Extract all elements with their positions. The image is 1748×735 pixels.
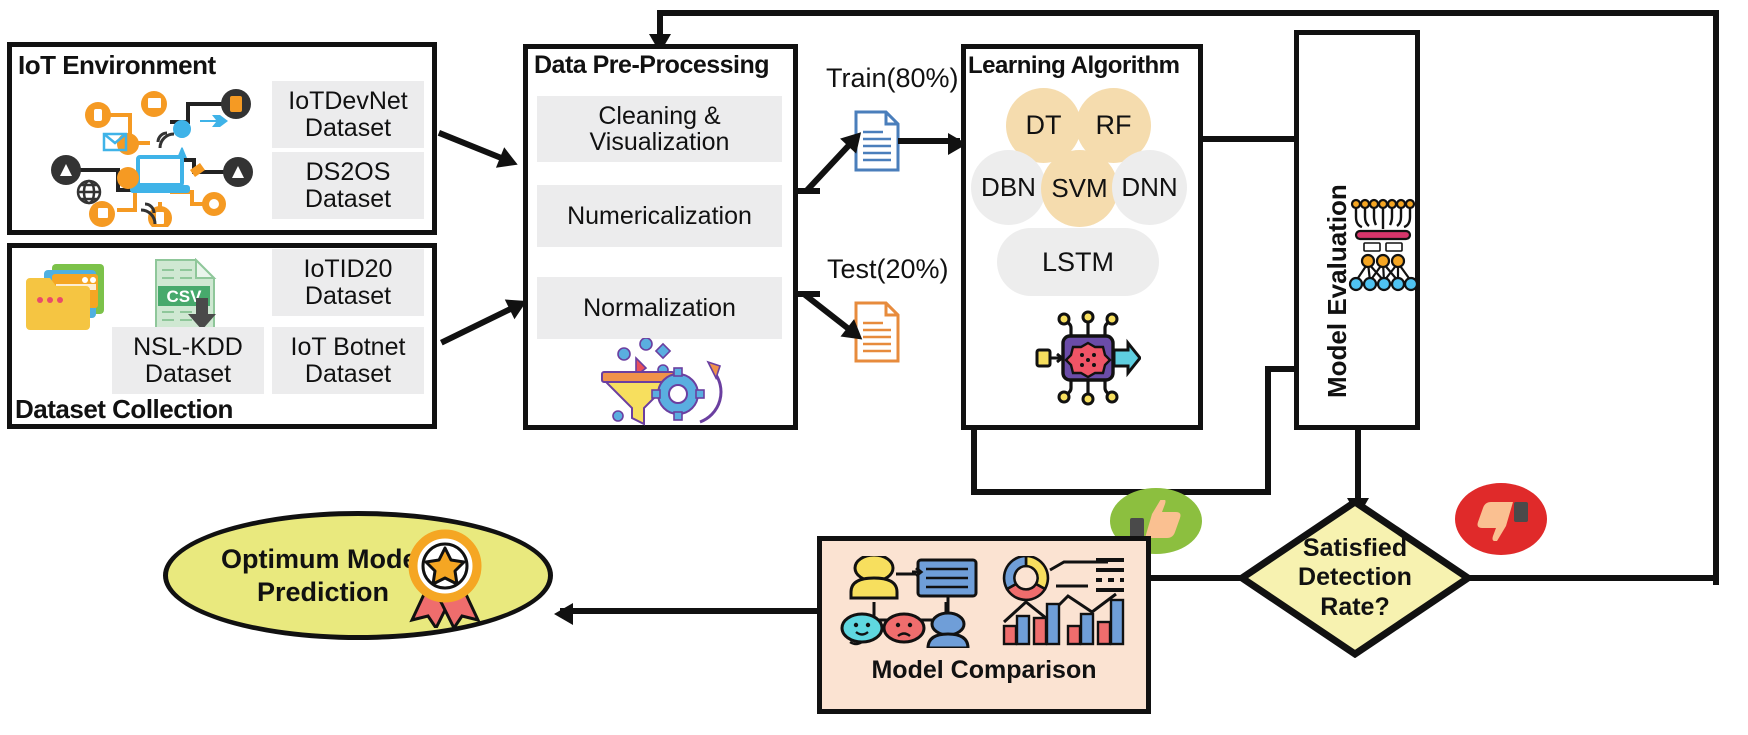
dataset-suffix: Dataset [145,361,231,388]
dataset-name: DS2OS [306,159,391,186]
step-line2: Visualization [590,129,730,156]
dataset-name: IoT Botnet [291,334,406,361]
ai-chip-icon [1035,310,1141,406]
iot-network-icon [42,82,272,227]
dataset-chip-iotbotnet[interactable]: IoT Botnet Dataset [272,327,424,394]
step-line1: Numericalization [567,203,752,230]
model-label: DBN [981,172,1036,203]
train-split-label: Train(80%) [826,63,959,94]
optimum-line1: Optimum Model [221,543,425,575]
iot-environment-title: IoT Environment [18,50,216,81]
preprocessing-step-cleaning[interactable]: Cleaning & Visualization [537,96,782,162]
model-label: DNN [1121,172,1177,203]
dataset-chip-nslkdd[interactable]: NSL-KDD Dataset [112,327,264,394]
folder-stack-icon [22,258,118,338]
preprocessing-step-numericalization[interactable]: Numericalization [537,185,782,247]
funnel-gear-icon [588,338,728,426]
model-label: RF [1096,110,1132,141]
dataset-suffix: Dataset [305,361,391,388]
dataset-suffix: Dataset [305,283,391,310]
dataset-name: IoTID20 [304,256,393,283]
model-label: SVM [1051,173,1107,204]
model-pill-lstm[interactable]: LSTM [997,228,1159,296]
preprocessing-step-normalization[interactable]: Normalization [537,277,782,339]
step-line1: Cleaning & [598,103,720,130]
award-ribbon-icon [400,528,496,628]
feedback-loop-down [657,10,663,36]
arrow-comparison-to-optimum [554,603,573,625]
decision-line3: Rate? [1320,593,1389,623]
feedback-loop-top [657,10,1719,16]
dataset-chip-iotdevnet[interactable]: IoTDevNet Dataset [272,81,424,148]
dataset-name: IoTDevNet [288,88,407,115]
dataset-collection-title: Dataset Collection [15,394,233,425]
decision-label: Satisfied Detection Rate? [1258,518,1452,638]
csv-download-icon: CSV [152,258,222,334]
analytics-charts-icon [1000,556,1130,648]
test-split-label: Test(20%) [827,254,949,285]
decision-line1: Satisfied [1303,534,1407,564]
feedback-loop-right [1713,10,1719,585]
org-chart-icon [838,556,984,648]
data-preprocessing-title: Data Pre-Processing [534,51,769,80]
model-label: LSTM [1042,247,1114,278]
line-learning-to-evaluation [1203,136,1307,142]
model-circle-dnn[interactable]: DNN [1112,150,1187,225]
dataset-suffix: Dataset [305,115,391,142]
learning-algorithm-title: Learning Algorithm [968,52,1179,80]
model-label: DT [1026,110,1062,141]
dataset-chip-iotid20[interactable]: IoTID20 Dataset [272,249,424,316]
dataset-name: NSL-KDD [133,334,243,361]
flowchart-canvas: IoT Environment [0,0,1748,735]
decision-line2: Detection [1298,563,1412,593]
model-comparison-title: Model Comparison [817,656,1151,685]
dataset-suffix: Dataset [305,186,391,213]
model-circle-svm[interactable]: SVM [1041,150,1118,227]
dataset-chip-ds2os[interactable]: DS2OS Dataset [272,152,424,219]
neural-network-icon [1348,195,1418,295]
line-test-up-to-eval [1265,366,1271,495]
thumbs-down-icon [1455,483,1547,555]
line-decision-no-right [1466,575,1719,581]
line-evaluation-to-decision [1355,430,1361,505]
optimum-line2: Prediction [257,576,389,608]
model-circle-dbn[interactable]: DBN [971,150,1046,225]
step-line1: Normalization [583,295,736,322]
line-test-right [971,489,1271,495]
line-comparison-to-optimum [560,608,817,614]
